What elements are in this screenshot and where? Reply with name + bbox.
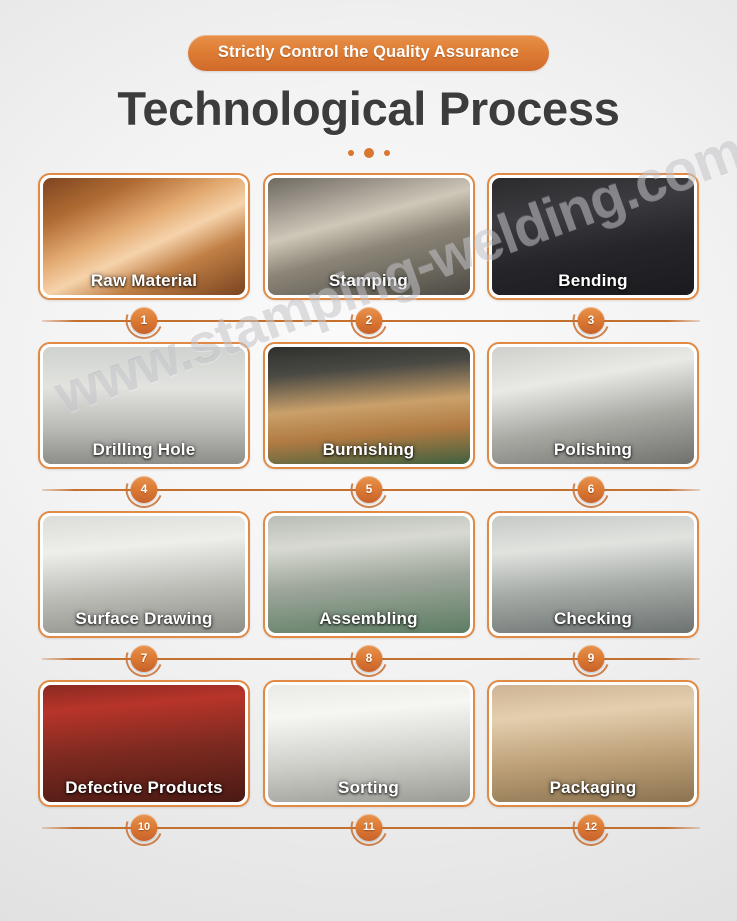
process-card[interactable]: Packaging: [487, 680, 699, 807]
step-number-badge: 2: [351, 302, 388, 339]
process-card-label: Raw Material: [40, 271, 248, 291]
dot-center-icon: [364, 148, 374, 158]
dot-left-icon: [348, 150, 354, 156]
process-card-label: Polishing: [489, 440, 697, 460]
step-number-badge: 10: [126, 809, 163, 846]
process-card-group: Drilling HoleBurnishingPolishing: [0, 342, 737, 469]
page-header: Strictly Control the Quality Assurance T…: [0, 0, 737, 159]
page-title: Technological Process: [0, 84, 737, 134]
step-badge-group: 456: [0, 469, 737, 511]
process-card[interactable]: Surface Drawing: [38, 511, 250, 638]
badge-number: 7: [131, 645, 158, 672]
step-connector: 456: [0, 469, 737, 511]
badge-number: 1: [131, 307, 158, 334]
process-card-label: Drilling Hole: [40, 440, 248, 460]
process-card[interactable]: Stamping: [263, 173, 475, 300]
process-card[interactable]: Raw Material: [38, 173, 250, 300]
badge-number: 11: [356, 814, 383, 841]
step-connector: 789: [0, 638, 737, 680]
process-card[interactable]: Drilling Hole: [38, 342, 250, 469]
step-number-badge: 12: [573, 809, 610, 846]
step-number-badge: 4: [126, 471, 163, 508]
process-row: Drilling HoleBurnishingPolishing456: [0, 342, 737, 511]
process-card-label: Checking: [489, 609, 697, 629]
process-row: Defective ProductsSortingPackaging101112: [0, 680, 737, 849]
process-card-label: Burnishing: [265, 440, 473, 460]
badge-number: 8: [356, 645, 383, 672]
step-number-badge: 6: [573, 471, 610, 508]
step-badge-group: 101112: [0, 807, 737, 849]
process-row: Surface DrawingAssemblingChecking789: [0, 511, 737, 680]
process-card[interactable]: Polishing: [487, 342, 699, 469]
badge-number: 5: [356, 476, 383, 503]
step-number-badge: 5: [351, 471, 388, 508]
process-row: Raw MaterialStampingBending123: [0, 173, 737, 342]
process-card[interactable]: Bending: [487, 173, 699, 300]
process-card-label: Defective Products: [40, 778, 248, 798]
badge-number: 10: [131, 814, 158, 841]
step-connector: 123: [0, 300, 737, 342]
process-card[interactable]: Assembling: [263, 511, 475, 638]
decorative-dots: [0, 147, 737, 159]
quality-assurance-banner: Strictly Control the Quality Assurance: [188, 35, 549, 71]
badge-number: 2: [356, 307, 383, 334]
process-card-label: Stamping: [265, 271, 473, 291]
step-number-badge: 9: [573, 640, 610, 677]
badge-number: 4: [131, 476, 158, 503]
step-number-badge: 3: [573, 302, 610, 339]
process-card[interactable]: Burnishing: [263, 342, 475, 469]
step-number-badge: 11: [351, 809, 388, 846]
process-card[interactable]: Sorting: [263, 680, 475, 807]
technological-process-page: Strictly Control the Quality Assurance T…: [0, 0, 737, 921]
process-card-group: Raw MaterialStampingBending: [0, 173, 737, 300]
step-number-badge: 1: [126, 302, 163, 339]
dot-right-icon: [384, 150, 390, 156]
step-connector: 101112: [0, 807, 737, 849]
process-card-label: Surface Drawing: [40, 609, 248, 629]
process-card-label: Bending: [489, 271, 697, 291]
badge-number: 3: [578, 307, 605, 334]
step-number-badge: 7: [126, 640, 163, 677]
process-card[interactable]: Defective Products: [38, 680, 250, 807]
process-card-group: Surface DrawingAssemblingChecking: [0, 511, 737, 638]
process-card-label: Packaging: [489, 778, 697, 798]
process-card[interactable]: Checking: [487, 511, 699, 638]
badge-number: 9: [578, 645, 605, 672]
process-grid: Raw MaterialStampingBending123Drilling H…: [0, 173, 737, 849]
step-badge-group: 123: [0, 300, 737, 342]
process-card-label: Sorting: [265, 778, 473, 798]
step-number-badge: 8: [351, 640, 388, 677]
badge-number: 12: [578, 814, 605, 841]
badge-number: 6: [578, 476, 605, 503]
step-badge-group: 789: [0, 638, 737, 680]
process-card-group: Defective ProductsSortingPackaging: [0, 680, 737, 807]
process-card-label: Assembling: [265, 609, 473, 629]
